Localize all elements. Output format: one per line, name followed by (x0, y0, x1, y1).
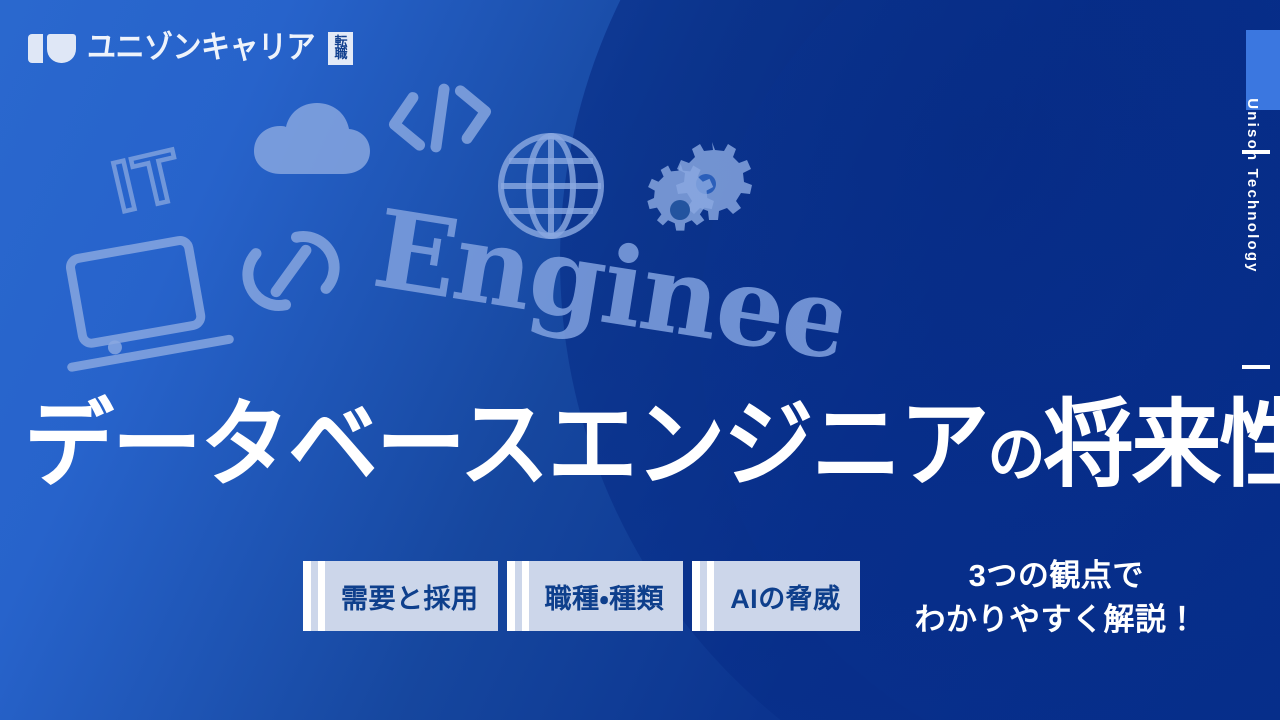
it-outline-text: IT (99, 105, 276, 235)
logo-mark-shape (47, 34, 76, 63)
thumbnail-canvas: IT (0, 0, 1280, 720)
cloud-icon (248, 100, 374, 178)
topic-tag-1-label: 需要と採用 (325, 561, 498, 631)
tag-stripe-inner (522, 561, 529, 631)
logo-badge-tenshoku: 転 職 (328, 32, 353, 65)
tag-stripe-mid (515, 561, 522, 631)
gears-icon (640, 138, 752, 242)
engineer-glyph: Engineer (366, 186, 851, 394)
topic-tag-3-label: AIの脅威 (714, 561, 860, 631)
right-rail: Unison Technology (1224, 0, 1280, 720)
tag-stripe-outer (692, 561, 700, 631)
page-title-particle: の (988, 425, 1044, 486)
page-title: データベースエンジニアの将来性 (24, 398, 1234, 493)
subtitle-kicker: 3つの観点で わかりやすく解説！ (915, 554, 1199, 642)
link-icon (233, 213, 349, 329)
unison-logo-mark (28, 34, 76, 63)
logo-mark-bar (28, 34, 43, 63)
topic-tag-3[interactable]: AIの脅威 (692, 561, 860, 631)
topic-tag-2-label: 職種・種類 (529, 561, 684, 631)
logo-wordmark: ユニゾンキャリア (87, 32, 315, 63)
tag-stripe-mid (700, 561, 707, 631)
topic-tag-1[interactable]: 需要と採用 (303, 561, 498, 631)
rail-brand-label: Unison Technology (1224, 81, 1280, 291)
topic-tag-row: 需要と採用 職種・種類 AIの脅威 (303, 561, 860, 631)
it-outline-glyph: IT (105, 135, 189, 228)
tag-stripe-outer (303, 561, 311, 631)
tag-stripe-outer (507, 561, 515, 631)
subtitle-line-2: わかりやすく解説！ (915, 598, 1199, 642)
logo-badge-line-2: 職 (335, 48, 347, 60)
site-logo[interactable]: ユニゾンキャリア 転 職 (28, 26, 353, 70)
engineer-decorative-text: Engineer (364, 182, 851, 399)
subtitle-line-1: 3つの観点で (915, 554, 1199, 598)
topic-tag-2[interactable]: 職種・種類 (507, 561, 684, 631)
tag-stripe-inner (707, 561, 714, 631)
code-brackets-icon (382, 75, 499, 161)
globe-icon (495, 130, 607, 242)
tag-stripe-inner (318, 561, 325, 631)
laptop-icon (46, 224, 239, 386)
tag-stripe-mid (311, 561, 318, 631)
page-title-part-1: データベースエンジニア (24, 398, 988, 493)
rail-divider-bottom (1242, 365, 1270, 369)
